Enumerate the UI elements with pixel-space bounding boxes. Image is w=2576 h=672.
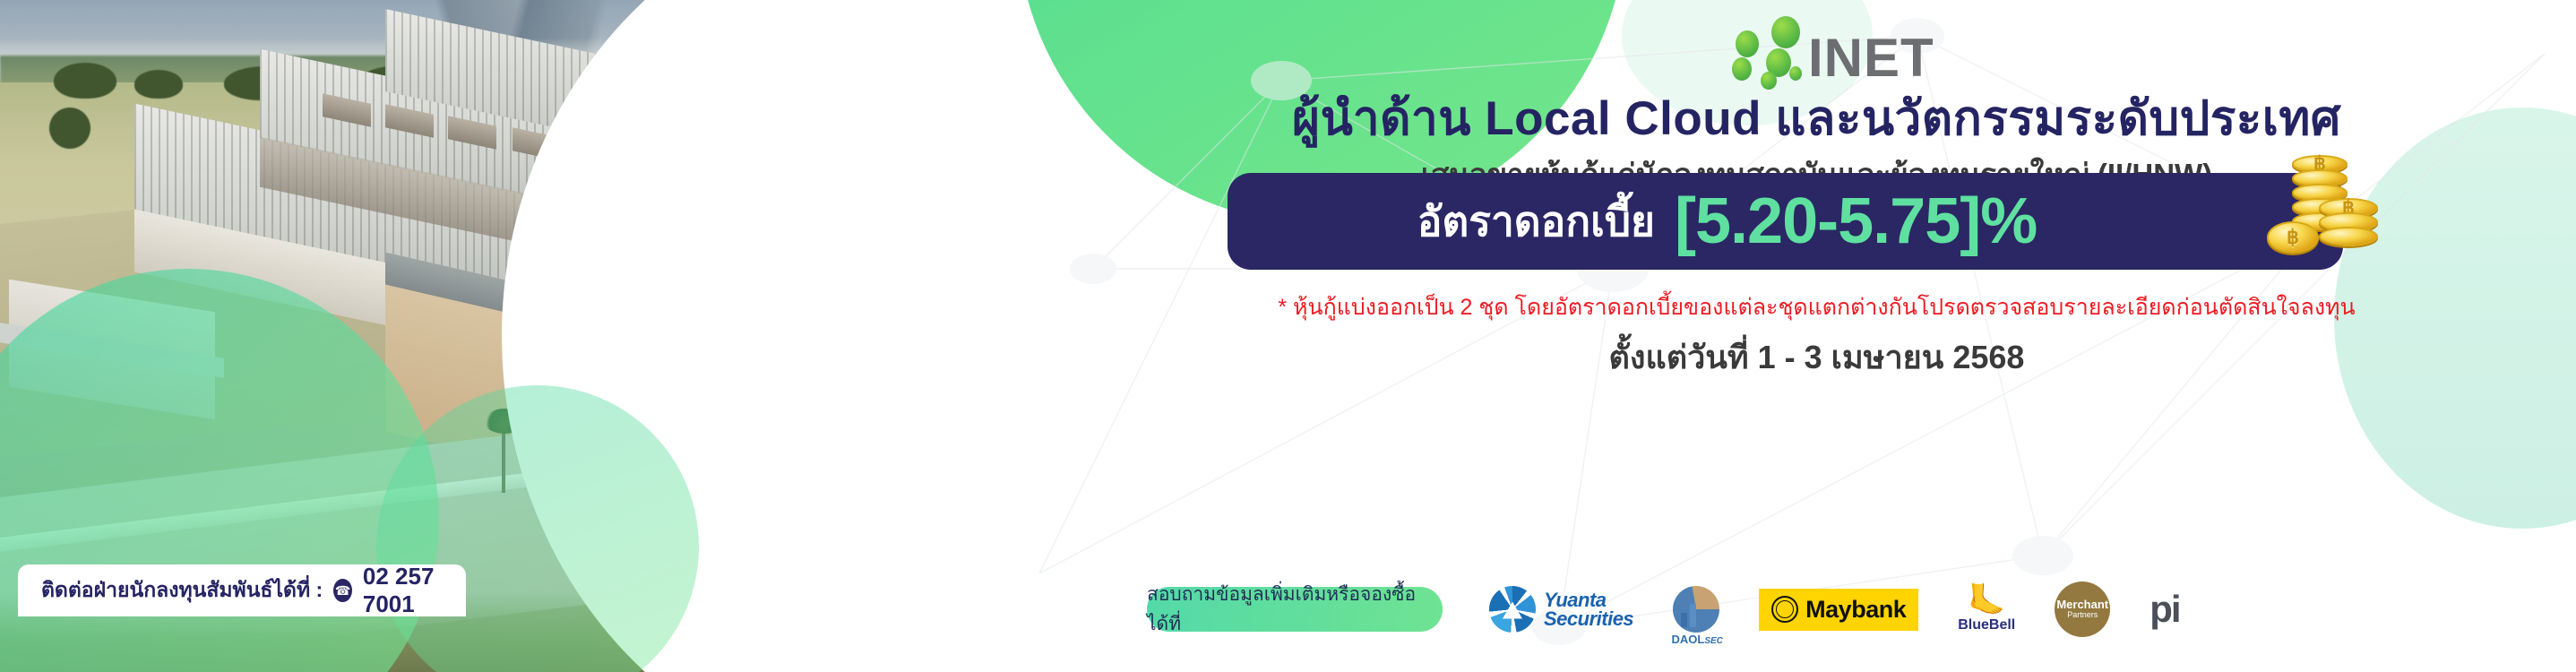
partner-logo-bluebell[interactable]: 🦶 BlueBell [1958,585,2015,633]
merchant-line2: Partners [2067,610,2098,620]
yuanta-wordmark: Yuanta Securities [1544,590,1633,628]
content-column: INET ผู้นำด้าน Local Cloud และนวัตกรรมระ… [1057,0,2576,672]
bluebell-deer-icon: 🦶 [1968,585,2005,616]
contact-cta-button[interactable]: สอบถามข้อมูลเพิ่มเติมหรือจองซื้อได้ที่ [1147,587,1443,632]
tree-clump [49,108,90,149]
daol-pie-icon [1673,586,1719,633]
inet-logo[interactable]: INET [1689,16,1985,88]
partner-logo-daol[interactable]: DAOLSEC [1673,586,1719,633]
partner-logo-maybank[interactable]: Maybank [1759,589,1918,631]
contact-cta-label: สอบถามข้อมูลเพิ่มเติมหรือจองซื้อได้ที่ [1147,580,1443,639]
merchant-line1: Merchant [2056,599,2108,610]
tree-clump [54,63,116,99]
pi-logo-icon: pi [2150,588,2179,631]
inet-bubble-icon [1732,57,1752,81]
tree-clump [134,70,183,99]
page-title: ผู้นำด้าน Local Cloud และนวัตกรรมระดับปร… [1057,81,2576,156]
offer-date-range: ตั้งแต่วันที่ 1 - 3 เมษายน 2568 [1057,332,2576,383]
partner-logo-pi[interactable]: pi [2150,588,2179,631]
maybank-wordmark: Maybank [1805,596,1906,624]
contact-label: ติดต่อฝ่ายนักลงทุนสัมพันธ์ได้ที่ : [41,574,323,607]
yuanta-star-icon [1489,586,1536,633]
maybank-tiger-icon [1771,596,1798,623]
disclaimer-text: * หุ้นกู้แบ่งออกเป็น 2 ชุด โดยอัตราดอกเบ… [1057,289,2576,325]
partner-logo-yuanta[interactable]: Yuanta Securities [1489,586,1633,633]
interest-rate-label: อัตราดอกเบี้ย [1417,189,1655,254]
merchant-circle-icon: Merchant Partners [2055,582,2110,637]
interest-rate-box: อัตราดอกเบี้ย [5.20-5.75]% ฿ ฿ ฿ [1228,173,2343,270]
partner-logo-merchant[interactable]: Merchant Partners [2055,582,2110,637]
inet-wordmark: INET [1808,27,1934,89]
bluebell-wordmark: BlueBell [1958,617,2015,633]
phone-icon: ☎ [333,579,352,602]
partner-logos: Yuanta Securities DAOLSEC Maybank 🦶 [1489,582,2180,637]
inet-bubble-icon [1789,66,1802,81]
inet-bubble-icon [1736,30,1759,57]
inet-bubble-icon [1771,16,1800,48]
contact-phone-number: 02 257 7001 [363,563,466,618]
promotional-banner: INET ผู้นำด้าน Local Cloud และนวัตกรรมระ… [0,0,2576,672]
daol-wordmark: DAOLSEC [1671,633,1723,646]
investor-relations-contact: ติดต่อฝ่ายนักลงทุนสัมพันธ์ได้ที่ : ☎ 02 … [18,564,466,616]
partners-row: สอบถามข้อมูลเพิ่มเติมหรือจองซื้อได้ที่ Y… [1057,573,2576,645]
interest-rate-value: [5.20-5.75]% [1675,185,2037,258]
gold-coin-stack-icon: ฿ ฿ ฿ [2249,148,2392,282]
